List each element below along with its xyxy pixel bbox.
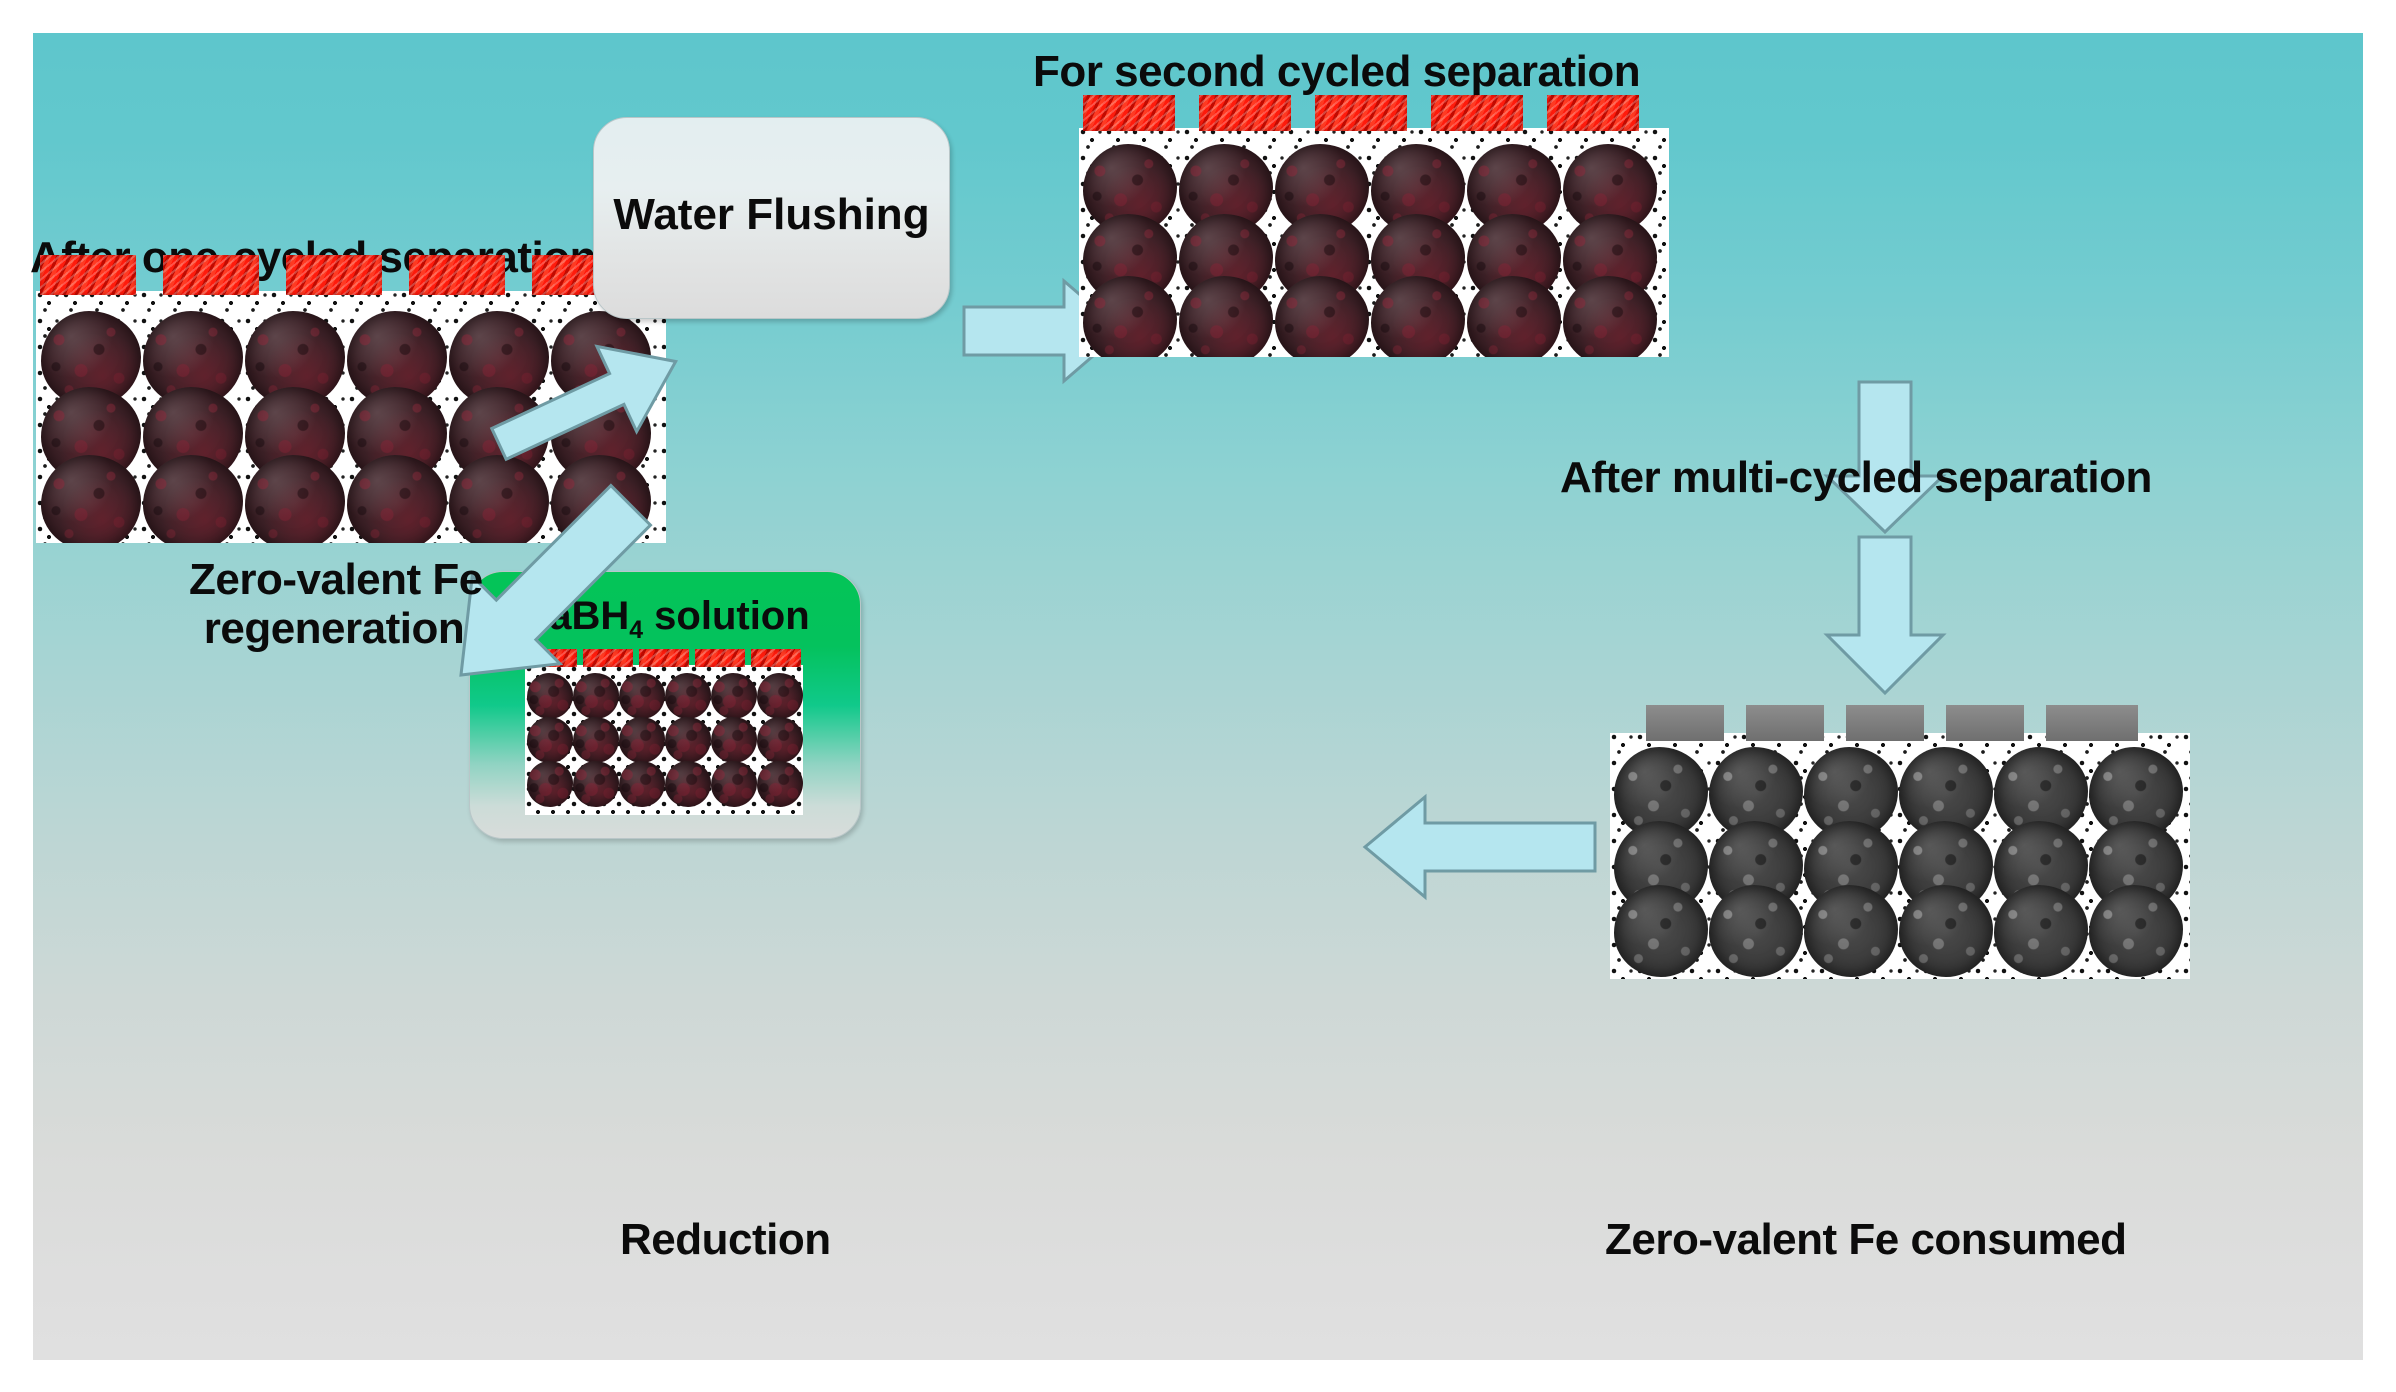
contaminant-cap <box>1431 95 1523 131</box>
arrow-multi-cycle-lower <box>1815 533 1955 698</box>
contaminant-cap <box>409 255 505 295</box>
regeneration-line-2: regeneration <box>189 604 479 653</box>
spent-cap <box>2046 705 2138 741</box>
label-after-multi-cycled-separation: After multi-cycled separation <box>1560 453 2152 502</box>
spent-cap <box>1946 705 2024 741</box>
figure-canvas: After one-cycled separation <box>0 0 2396 1392</box>
contaminant-cap <box>286 255 382 295</box>
label-for-second-cycled-separation: For second cycled separation <box>1033 47 1640 96</box>
contaminant-cap <box>40 255 136 295</box>
panel-fe-consumed <box>1610 733 2190 979</box>
contaminant-cap <box>695 649 745 667</box>
water-flushing-box[interactable]: Water Flushing <box>593 117 950 319</box>
label-reduction: Reduction <box>620 1215 831 1264</box>
regeneration-line-1: Zero-valent Fe <box>189 555 479 604</box>
spent-cap <box>1646 705 1724 741</box>
spent-cap <box>1846 705 1924 741</box>
contaminant-cap <box>163 255 259 295</box>
spent-cap <box>1746 705 1824 741</box>
contaminant-cap <box>1315 95 1407 131</box>
arrow-to-water-flushing <box>467 295 717 495</box>
bead-grid <box>1079 128 1669 357</box>
contaminant-cap <box>1199 95 1291 131</box>
bead-grid <box>1610 733 2190 979</box>
contaminant-cap <box>1083 95 1175 131</box>
diagram-stage: After one-cycled separation <box>33 33 2363 1360</box>
label-zero-valent-fe-regeneration: Zero-valent Fe regeneration <box>189 555 479 654</box>
contaminant-cap <box>1547 95 1639 131</box>
label-zero-valent-fe-consumed: Zero-valent Fe consumed <box>1605 1215 2127 1264</box>
contaminant-cap <box>751 649 801 667</box>
water-flushing-label: Water Flushing <box>594 190 949 240</box>
panel-second-cycle <box>1079 128 1669 357</box>
arrow-to-nabh4 <box>1359 789 1599 909</box>
